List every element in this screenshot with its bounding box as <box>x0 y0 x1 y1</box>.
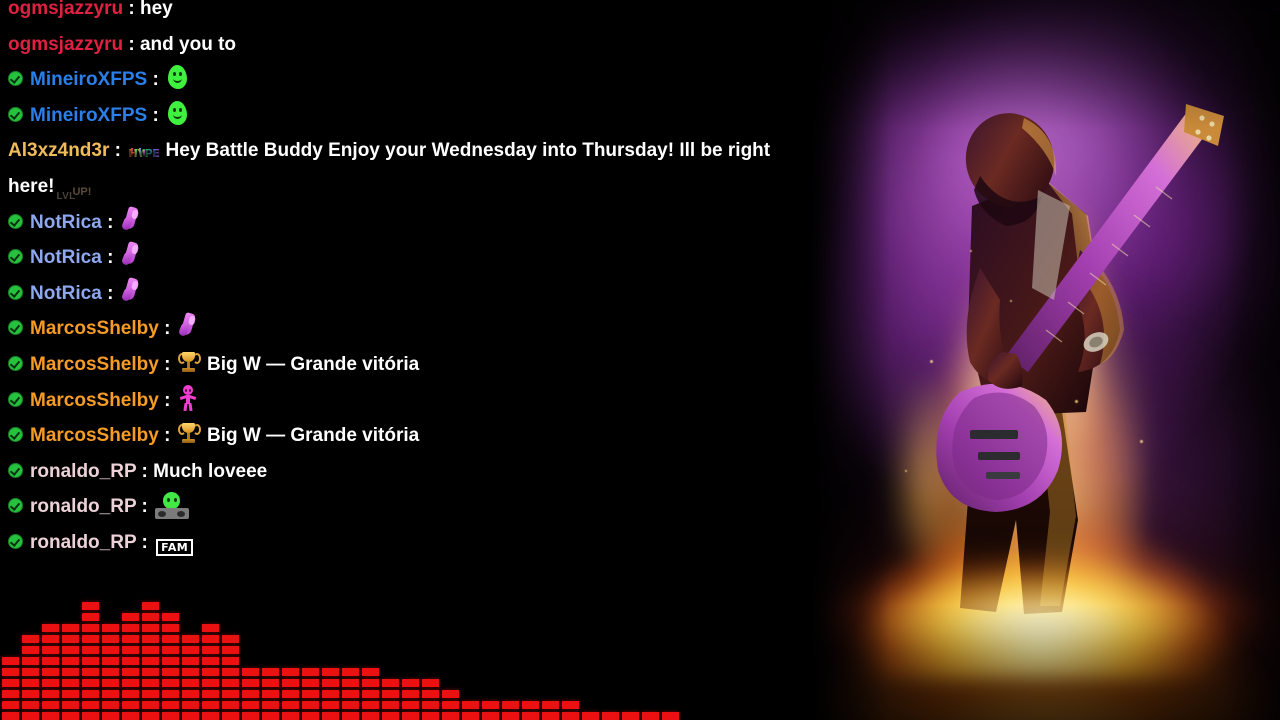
visualizer-segment <box>142 701 159 709</box>
visualizer-bar <box>22 635 39 720</box>
visualizer-segment <box>362 690 379 698</box>
chat-username[interactable]: MarcosShelby <box>30 390 159 411</box>
chat-message[interactable]: ogmsjazzyru : and you to <box>0 27 820 63</box>
chat-separator: : <box>159 425 176 446</box>
visualizer-segment <box>22 635 39 643</box>
visualizer-segment <box>42 690 59 698</box>
chat-separator: : <box>136 461 153 482</box>
chat-separator: : <box>147 105 164 126</box>
visualizer-segment <box>562 712 579 720</box>
visualizer-segment <box>22 712 39 720</box>
visualizer-segment <box>202 690 219 698</box>
visualizer-segment <box>302 690 319 698</box>
visualizer-bar <box>622 712 639 720</box>
visualizer-segment <box>2 679 19 687</box>
visualizer-segment <box>142 690 159 698</box>
visualizer-segment <box>442 690 459 698</box>
purple-emote <box>121 241 143 269</box>
chat-separator: : <box>159 390 176 411</box>
chat-username[interactable]: MineiroXFPS <box>30 69 147 90</box>
visualizer-segment <box>182 668 199 676</box>
visualizer-segment <box>402 690 419 698</box>
chat-username[interactable]: NotRica <box>30 212 102 233</box>
chat-username[interactable]: ronaldo_RP <box>30 461 136 482</box>
visualizer-segment <box>302 701 319 709</box>
visualizer-segment <box>242 690 259 698</box>
visualizer-segment <box>562 701 579 709</box>
visualizer-segment <box>342 679 359 687</box>
visualizer-segment <box>22 690 39 698</box>
visualizer-segment <box>82 646 99 654</box>
visualizer-segment <box>162 657 179 665</box>
chat-message[interactable]: MarcosShelby : <box>0 383 820 419</box>
chat-separator: : <box>159 354 176 375</box>
ember-particle <box>970 250 972 252</box>
visualizer-segment <box>322 668 339 676</box>
stream-artwork <box>810 0 1280 720</box>
visualizer-segment <box>402 712 419 720</box>
visualizer-segment <box>362 701 379 709</box>
verified-badge-icon <box>8 392 23 407</box>
visualizer-segment <box>182 679 199 687</box>
visualizer-segment <box>62 668 79 676</box>
trophy-emote <box>178 422 200 446</box>
visualizer-segment <box>82 657 99 665</box>
visualizer-segment <box>222 690 239 698</box>
chat-message-text: Big W — Grande vitória <box>202 425 419 446</box>
visualizer-segment <box>382 712 399 720</box>
visualizer-bar <box>582 712 599 720</box>
visualizer-segment <box>462 701 479 709</box>
chat-username[interactable]: ronaldo_RP <box>30 532 136 553</box>
visualizer-segment <box>42 668 59 676</box>
visualizer-segment <box>22 701 39 709</box>
visualizer-segment <box>42 635 59 643</box>
visualizer-segment <box>262 690 279 698</box>
chat-message-list[interactable]: ogmsjazzyru : heyogmsjazzyru : and you t… <box>0 0 820 578</box>
visualizer-segment <box>42 712 59 720</box>
chat-message[interactable]: MarcosShelby : Big W — Grande vitória <box>0 347 820 383</box>
visualizer-bar <box>142 602 159 720</box>
visualizer-segment <box>442 701 459 709</box>
visualizer-bar <box>662 712 679 720</box>
chat-separator: : <box>136 532 153 553</box>
chat-message[interactable]: ronaldo_RP : Much loveee <box>0 454 820 490</box>
visualizer-bar <box>482 701 499 720</box>
visualizer-segment <box>122 668 139 676</box>
visualizer-segment <box>342 701 359 709</box>
chat-message-text: hey <box>140 0 173 19</box>
visualizer-segment <box>82 712 99 720</box>
chat-separator: : <box>159 318 176 339</box>
visualizer-segment <box>302 668 319 676</box>
visualizer-bar <box>402 679 419 720</box>
chat-message[interactable]: MineiroXFPS : <box>0 98 820 134</box>
visualizer-segment <box>122 635 139 643</box>
chat-username[interactable]: MarcosShelby <box>30 318 159 339</box>
visualizer-segment <box>302 679 319 687</box>
visualizer-segment <box>162 668 179 676</box>
visualizer-segment <box>202 624 219 632</box>
visualizer-segment <box>102 712 119 720</box>
visualizer-segment <box>222 679 239 687</box>
visualizer-segment <box>62 701 79 709</box>
chat-message[interactable]: NotRica : <box>0 240 820 276</box>
visualizer-segment <box>422 679 439 687</box>
chat-message[interactable]: NotRica : <box>0 205 820 241</box>
visualizer-segment <box>82 613 99 621</box>
visualizer-segment <box>322 679 339 687</box>
chat-username[interactable]: MineiroXFPS <box>30 105 147 126</box>
visualizer-segment <box>82 624 99 632</box>
visualizer-segment <box>262 712 279 720</box>
ember-particle <box>1075 400 1078 403</box>
visualizer-segment <box>2 657 19 665</box>
chat-message[interactable]: MarcosShelby : Big W — Grande vitória <box>0 418 820 454</box>
visualizer-segment <box>122 701 139 709</box>
visualizer-bar <box>282 668 299 720</box>
visualizer-segment <box>642 712 659 720</box>
visualizer-bar <box>322 668 339 720</box>
visualizer-segment <box>162 613 179 621</box>
visualizer-segment <box>482 712 499 720</box>
visualizer-segment <box>82 635 99 643</box>
visualizer-segment <box>102 679 119 687</box>
visualizer-bar <box>562 701 579 720</box>
visualizer-bar <box>182 635 199 720</box>
visualizer-segment <box>42 646 59 654</box>
visualizer-segment <box>502 712 519 720</box>
visualizer-segment <box>162 624 179 632</box>
visualizer-segment <box>442 712 459 720</box>
visualizer-segment <box>142 679 159 687</box>
visualizer-bar <box>42 624 59 720</box>
visualizer-segment <box>122 657 139 665</box>
visualizer-segment <box>222 668 239 676</box>
chat-message[interactable]: ogmsjazzyru : hey <box>0 0 820 27</box>
visualizer-segment <box>342 712 359 720</box>
chat-separator: : <box>102 247 119 268</box>
visualizer-segment <box>202 635 219 643</box>
visualizer-segment <box>622 712 639 720</box>
chat-username[interactable]: ogmsjazzyru <box>8 0 123 19</box>
chat-separator: : <box>109 140 126 161</box>
visualizer-segment <box>222 635 239 643</box>
ember-particle <box>905 470 907 472</box>
visualizer-segment <box>382 690 399 698</box>
visualizer-bar <box>102 624 119 720</box>
visualizer-segment <box>262 679 279 687</box>
visualizer-segment <box>182 690 199 698</box>
visualizer-segment <box>282 701 299 709</box>
visualizer-segment <box>62 679 79 687</box>
visualizer-segment <box>262 701 279 709</box>
visualizer-bar <box>342 668 359 720</box>
chat-message[interactable]: MineiroXFPS : <box>0 62 820 98</box>
visualizer-segment <box>202 646 219 654</box>
visualizer-segment <box>142 602 159 610</box>
verified-badge-icon <box>8 427 23 442</box>
visualizer-bar <box>522 701 539 720</box>
visualizer-segment <box>182 635 199 643</box>
visualizer-segment <box>62 624 79 632</box>
visualizer-segment <box>362 679 379 687</box>
visualizer-segment <box>102 701 119 709</box>
visualizer-segment <box>322 712 339 720</box>
visualizer-segment <box>62 646 79 654</box>
chat-separator: : <box>102 212 119 233</box>
verified-badge-icon <box>8 534 23 549</box>
visualizer-segment <box>82 679 99 687</box>
visualizer-segment <box>202 712 219 720</box>
visualizer-bar <box>642 712 659 720</box>
visualizer-segment <box>162 701 179 709</box>
visualizer-segment <box>162 679 179 687</box>
visualizer-bar <box>502 701 519 720</box>
visualizer-segment <box>342 690 359 698</box>
visualizer-segment <box>82 701 99 709</box>
visualizer-segment <box>102 690 119 698</box>
visualizer-segment <box>142 657 159 665</box>
kick-fam-emote: KICKFAM <box>155 527 189 557</box>
chat-message[interactable]: ronaldo_RP : <box>0 489 820 525</box>
visualizer-segment <box>202 657 219 665</box>
chat-username[interactable]: MarcosShelby <box>30 425 159 446</box>
visualizer-segment <box>162 646 179 654</box>
chat-username[interactable]: Al3xz4nd3r <box>8 140 109 161</box>
visualizer-segment <box>602 712 619 720</box>
visualizer-segment <box>82 668 99 676</box>
visualizer-segment <box>42 679 59 687</box>
chat-username[interactable]: MarcosShelby <box>30 354 159 375</box>
visualizer-segment <box>2 712 19 720</box>
visualizer-bar <box>302 668 319 720</box>
visualizer-segment <box>422 701 439 709</box>
chat-username[interactable]: NotRica <box>30 283 102 304</box>
verified-badge-icon <box>8 463 23 478</box>
visualizer-segment <box>142 613 159 621</box>
verified-badge-icon <box>8 498 23 513</box>
visualizer-segment <box>142 646 159 654</box>
visualizer-bar <box>202 624 219 720</box>
visualizer-segment <box>82 602 99 610</box>
visualizer-segment <box>182 701 199 709</box>
visualizer-segment <box>22 646 39 654</box>
visualizer-segment <box>22 657 39 665</box>
chat-separator: : <box>102 283 119 304</box>
visualizer-segment <box>382 679 399 687</box>
visualizer-segment <box>222 646 239 654</box>
visualizer-segment <box>222 701 239 709</box>
visualizer-bar <box>162 613 179 720</box>
visualizer-bar <box>602 712 619 720</box>
visualizer-segment <box>242 679 259 687</box>
visualizer-segment <box>282 679 299 687</box>
visualizer-segment <box>342 668 359 676</box>
visualizer-segment <box>122 679 139 687</box>
visualizer-segment <box>482 701 499 709</box>
verified-badge-icon <box>8 356 23 371</box>
verified-badge-icon <box>8 71 23 86</box>
visualizer-bar <box>122 613 139 720</box>
chat-message-text: and you to <box>140 34 236 55</box>
chat-separator: : <box>136 496 153 517</box>
visualizer-bar <box>442 690 459 720</box>
visualizer-segment <box>282 668 299 676</box>
visualizer-segment <box>22 668 39 676</box>
visualizer-segment <box>122 690 139 698</box>
visualizer-segment <box>362 668 379 676</box>
visualizer-segment <box>62 657 79 665</box>
visualizer-segment <box>102 635 119 643</box>
ember-particle <box>1010 300 1012 302</box>
visualizer-bar <box>462 701 479 720</box>
visualizer-segment <box>142 624 159 632</box>
visualizer-segment <box>102 668 119 676</box>
visualizer-segment <box>182 657 199 665</box>
chat-username[interactable]: NotRica <box>30 247 102 268</box>
visualizer-segment <box>222 657 239 665</box>
chat-separator: : <box>123 34 140 55</box>
visualizer-segment <box>362 712 379 720</box>
visualizer-segment <box>242 701 259 709</box>
visualizer-segment <box>162 712 179 720</box>
visualizer-bar <box>2 657 19 720</box>
visualizer-bar <box>542 701 559 720</box>
audio-visualizer <box>0 580 712 720</box>
ember-particle <box>1140 440 1143 443</box>
visualizer-segment <box>122 646 139 654</box>
chat-message-text: Much loveee <box>153 461 267 482</box>
verified-badge-icon <box>8 320 23 335</box>
lvl-emote: LVLUP! <box>56 175 86 195</box>
hype-emote: HYPE <box>128 136 158 160</box>
chat-message-text: Big W — Grande vitória <box>202 354 419 375</box>
visualizer-segment <box>582 712 599 720</box>
visualizer-segment <box>402 679 419 687</box>
visualizer-segment <box>182 646 199 654</box>
visualizer-segment <box>182 712 199 720</box>
chat-username[interactable]: ronaldo_RP <box>30 496 136 517</box>
visualizer-segment <box>2 690 19 698</box>
trophy-emote <box>178 351 200 375</box>
visualizer-segment <box>522 701 539 709</box>
visualizer-bar <box>362 668 379 720</box>
visualizer-segment <box>282 712 299 720</box>
visualizer-bar <box>82 602 99 720</box>
verified-badge-icon <box>8 285 23 300</box>
visualizer-bar <box>242 668 259 720</box>
visualizer-segment <box>302 712 319 720</box>
visualizer-segment <box>122 624 139 632</box>
visualizer-bar <box>262 668 279 720</box>
purple-emote <box>121 206 143 234</box>
visualizer-segment <box>202 701 219 709</box>
visualizer-bar <box>222 635 239 720</box>
visualizer-segment <box>2 668 19 676</box>
chat-separator: : <box>147 69 164 90</box>
visualizer-segment <box>22 679 39 687</box>
visualizer-segment <box>102 624 119 632</box>
visualizer-segment <box>662 712 679 720</box>
visualizer-segment <box>102 646 119 654</box>
chat-username[interactable]: ogmsjazzyru <box>8 34 123 55</box>
visualizer-segment <box>122 613 139 621</box>
verified-badge-icon <box>8 214 23 229</box>
visualizer-segment <box>62 690 79 698</box>
visualizer-segment <box>42 624 59 632</box>
visualizer-segment <box>162 635 179 643</box>
visualizer-segment <box>62 635 79 643</box>
visualizer-segment <box>242 712 259 720</box>
visualizer-segment <box>242 668 259 676</box>
visualizer-segment <box>122 712 139 720</box>
visualizer-segment <box>542 701 559 709</box>
visualizer-segment <box>422 690 439 698</box>
visualizer-segment <box>102 657 119 665</box>
visualizer-segment <box>282 690 299 698</box>
visualizer-segment <box>522 712 539 720</box>
blob-dj-emote <box>155 491 189 521</box>
visualizer-segment <box>142 668 159 676</box>
visualizer-segment <box>322 690 339 698</box>
visualizer-segment <box>62 712 79 720</box>
visualizer-segment <box>322 701 339 709</box>
chat-message[interactable]: NotRica : <box>0 276 820 312</box>
visualizer-segment <box>382 701 399 709</box>
pink-figure-emote <box>178 384 198 412</box>
visualizer-segment <box>142 712 159 720</box>
chat-message[interactable]: MarcosShelby : <box>0 311 820 347</box>
ember-particle <box>930 360 933 363</box>
visualizer-segment <box>202 679 219 687</box>
visualizer-bar <box>62 624 79 720</box>
visualizer-segment <box>502 701 519 709</box>
visualizer-bar <box>382 679 399 720</box>
verified-badge-icon <box>8 249 23 264</box>
green-blob-emote <box>166 64 190 91</box>
purple-emote <box>121 277 143 305</box>
chat-message[interactable]: ronaldo_RP : KICKFAM <box>0 525 820 561</box>
chat-message[interactable]: Al3xz4nd3r : HYPE Hey Battle Buddy Enjoy… <box>0 133 820 204</box>
purple-emote <box>178 312 200 340</box>
visualizer-segment <box>42 701 59 709</box>
visualizer-segment <box>462 712 479 720</box>
visualizer-segment <box>222 712 239 720</box>
visualizer-segment <box>162 690 179 698</box>
visualizer-segment <box>142 635 159 643</box>
verified-badge-icon <box>8 107 23 122</box>
visualizer-segment <box>422 712 439 720</box>
visualizer-segment <box>542 712 559 720</box>
visualizer-segment <box>262 668 279 676</box>
chat-separator: : <box>123 0 140 19</box>
visualizer-segment <box>2 701 19 709</box>
visualizer-segment <box>202 668 219 676</box>
green-blob-emote <box>166 100 190 127</box>
visualizer-segment <box>42 657 59 665</box>
visualizer-segment <box>82 690 99 698</box>
visualizer-segment <box>402 701 419 709</box>
visualizer-bar <box>422 679 439 720</box>
stage-glow <box>810 570 1280 720</box>
